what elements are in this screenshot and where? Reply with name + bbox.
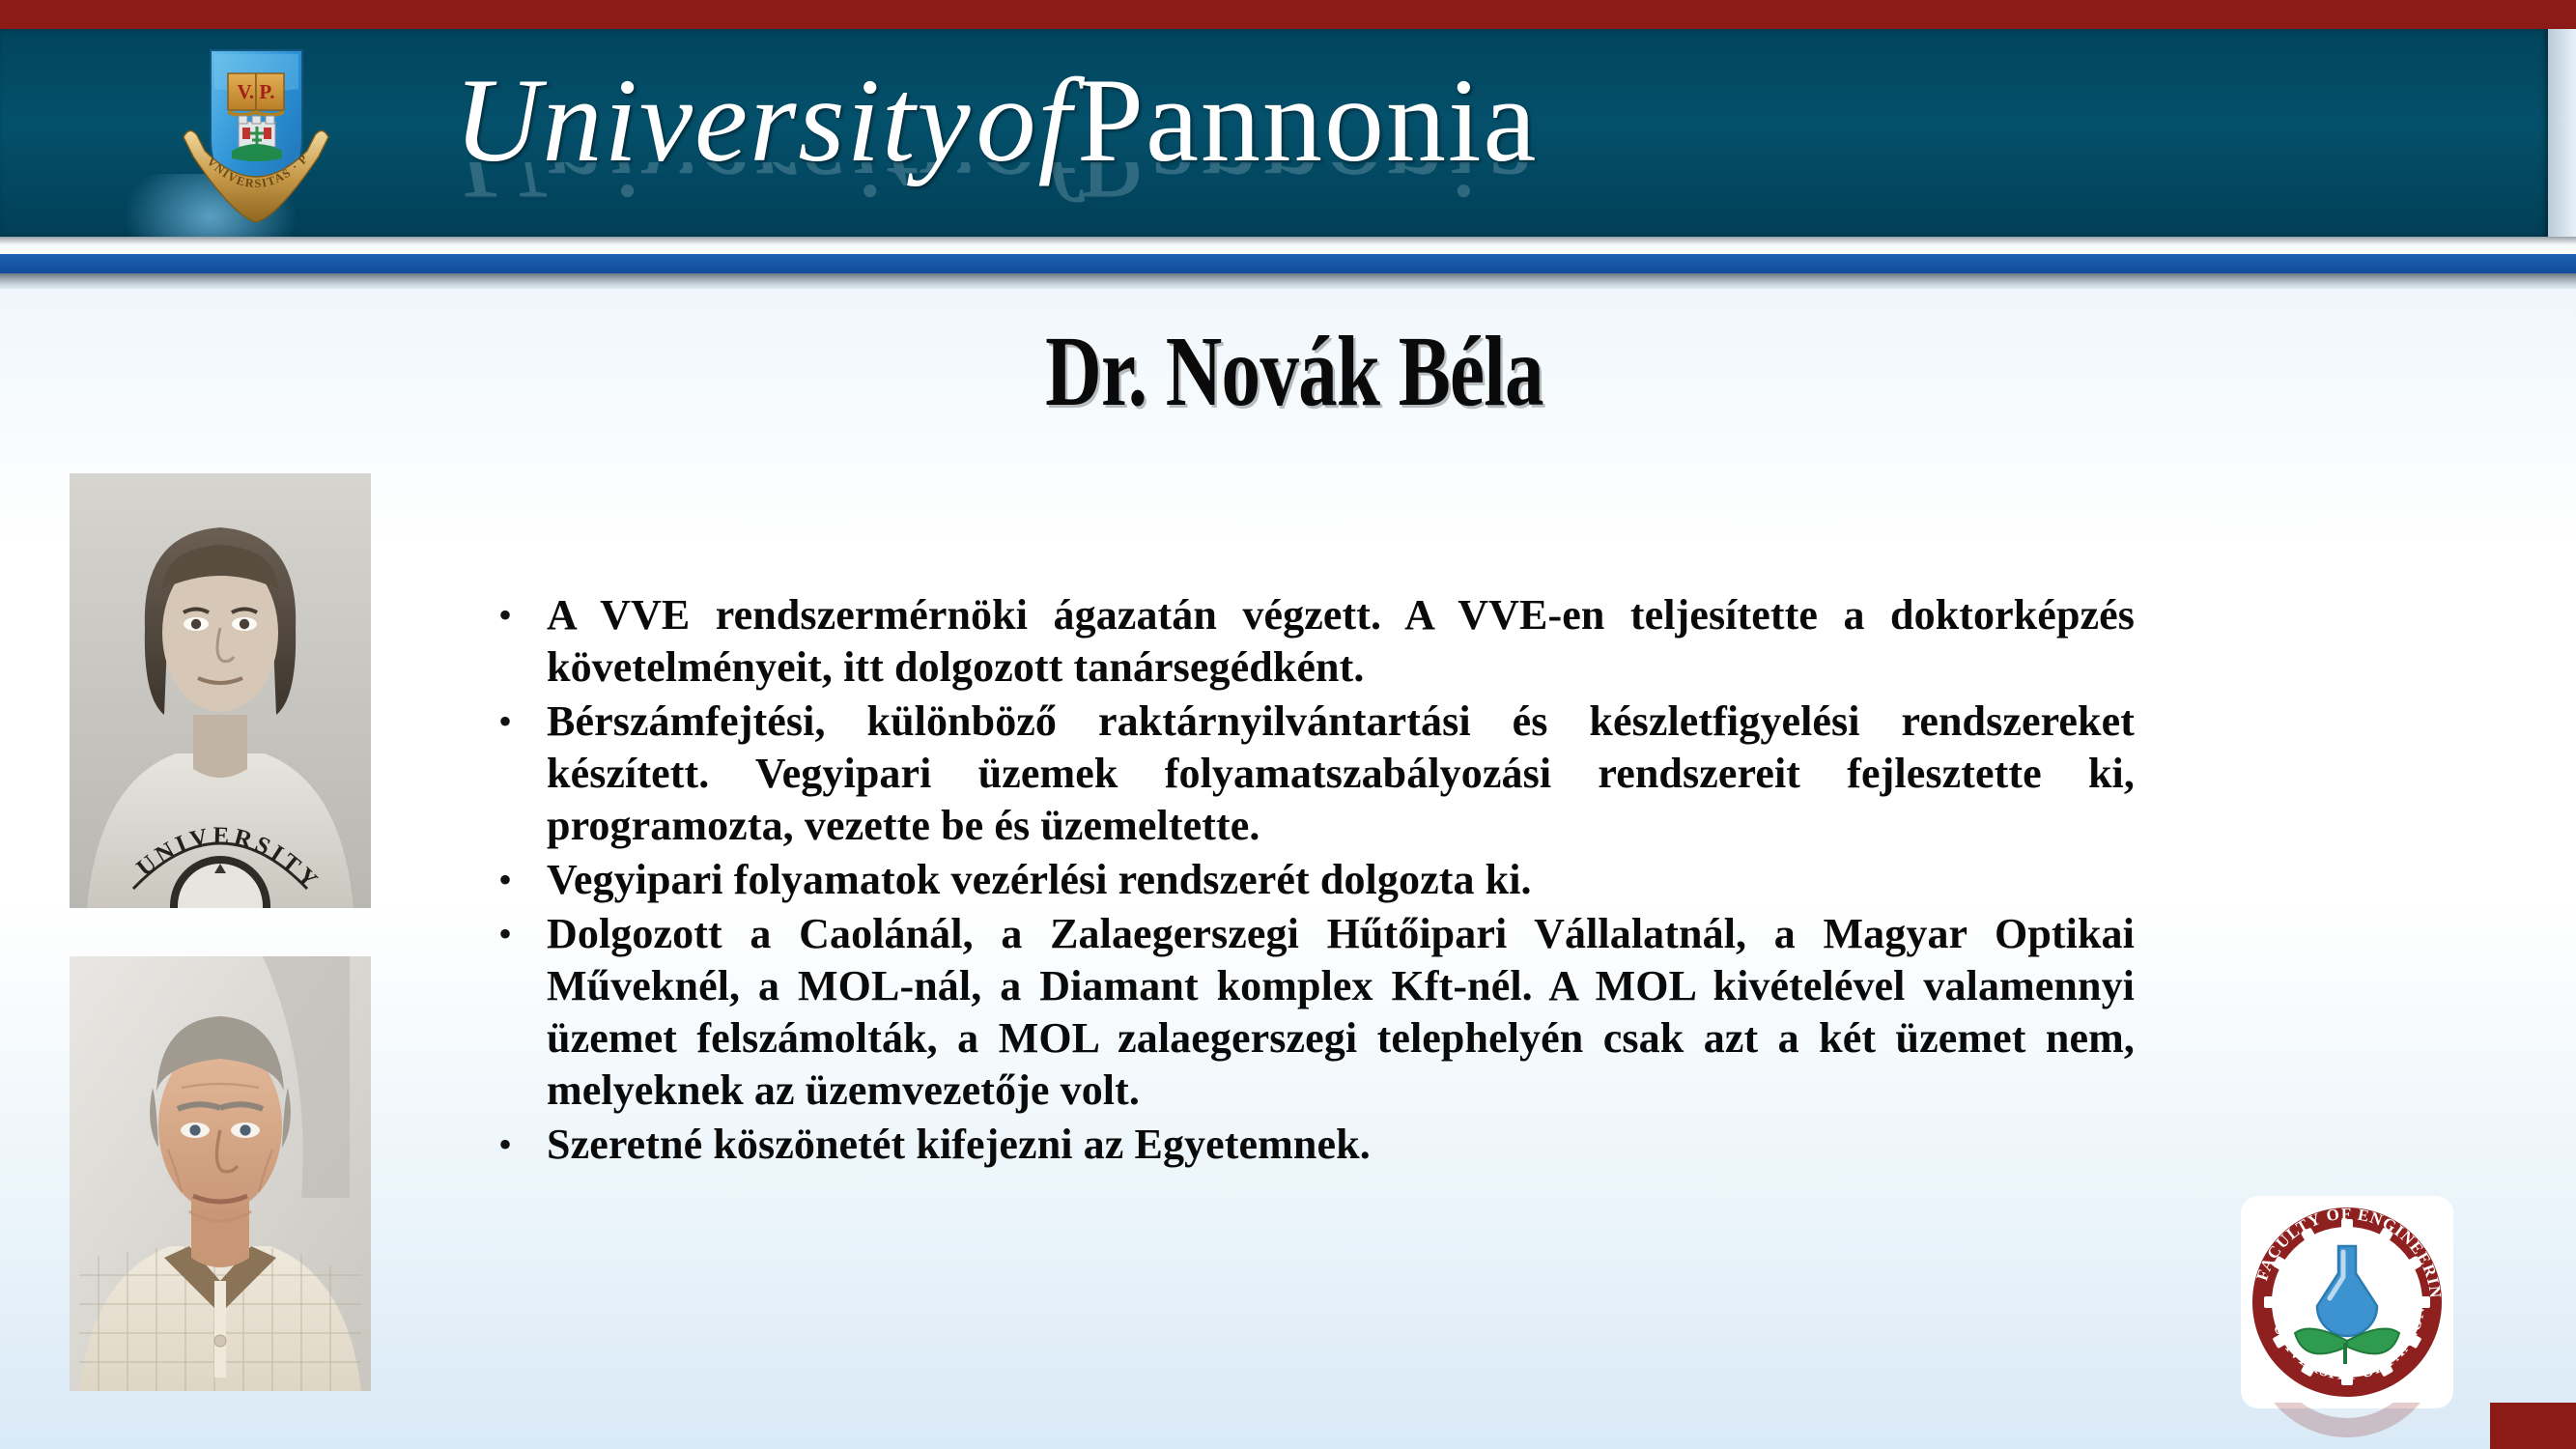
bullet-marker: • [493, 908, 547, 960]
bullet-marker: • [493, 1119, 547, 1171]
faculty-logo-reflection [2241, 1403, 2453, 1449]
bottom-right-red-block [2490, 1403, 2576, 1449]
wordmark: University of Pannonia [454, 39, 2154, 203]
header-divider-grey [0, 273, 2576, 289]
bullet-marker: • [493, 854, 547, 906]
university-crest-icon: V. P. VNIVERSITAS · PANNONICA [172, 33, 341, 241]
bullet-marker: • [493, 589, 547, 641]
list-item-text: Vegyipari folyamatok vezérlési rendszeré… [547, 854, 2135, 906]
portrait-present-color [70, 956, 371, 1391]
presentation-slide: V. P. VNIVERSITAS · PANNONICA [0, 0, 2576, 1449]
wordmark-word-2: of [977, 54, 1073, 186]
bullet-marker: • [493, 696, 547, 748]
header-divider-blue [0, 254, 2576, 273]
list-item-text: A VVE rendszermérnöki ágazatán végzett. … [547, 589, 2135, 694]
list-item: • A VVE rendszermérnöki ágazatán végzett… [493, 589, 2135, 694]
header-right-strip [2548, 29, 2576, 237]
wordmark-word-1: University [454, 54, 973, 186]
list-item: • Vegyipari folyamatok vezérlési rendsze… [493, 854, 2135, 906]
list-item: • Szeretné köszönetét kifejezni az Egyet… [493, 1119, 2135, 1171]
list-item-text: Szeretné köszönetét kifejezni az Egyetem… [547, 1119, 2135, 1171]
list-item: • Dolgozott a Caolánál, a Zalaegerszegi … [493, 908, 2135, 1117]
page-title: Dr. Novák Béla [707, 314, 1882, 429]
list-item-text: Dolgozott a Caolánál, a Zalaegerszegi Hű… [547, 908, 2135, 1117]
svg-text:V. P.: V. P. [237, 80, 274, 103]
header-divider-white [0, 237, 2576, 254]
portrait-young-bw: UNIVERSITY [70, 473, 371, 908]
flask-leaves-gear-icon: FACULTY OF ENGINEERING UNIVERSITY OF PAN… [2241, 1196, 2453, 1408]
bullet-list: • A VVE rendszermérnöki ágazatán végzett… [493, 589, 2135, 1173]
list-item-text: Bérszámfejtési, különböző raktárnyilvánt… [547, 696, 2135, 852]
top-red-bar [0, 0, 2576, 29]
wordmark-word-3: Pannonia [1077, 54, 1539, 186]
list-item: • Bérszámfejtési, különböző raktárnyilvá… [493, 696, 2135, 852]
